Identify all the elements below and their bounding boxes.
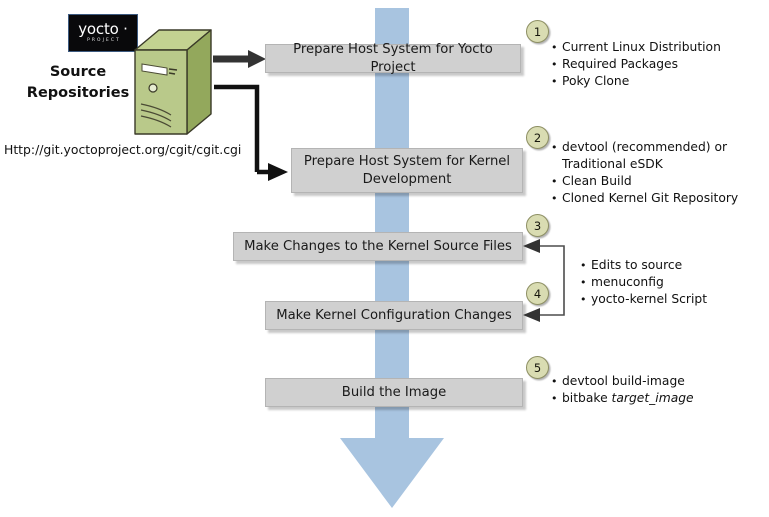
- bitbake-command-prefix: bitbake: [562, 391, 612, 405]
- step-circle-4: 4: [526, 282, 549, 305]
- step-circle-5: 5: [526, 356, 549, 379]
- step-circle-2: 2: [526, 126, 549, 149]
- diagram-canvas: yocto · PROJECT Source Repositories Http…: [0, 0, 769, 517]
- list-item: bitbake target_image: [551, 390, 761, 407]
- list-item: Current Linux Distribution: [551, 39, 766, 56]
- bullet-list-steps-3-4: Edits to source menuconfig yocto-kernel …: [580, 257, 760, 308]
- list-item: menuconfig: [580, 274, 760, 291]
- list-item: devtool (recommended) or Traditional eSD…: [551, 139, 761, 173]
- list-item: devtool build-image: [551, 373, 761, 390]
- bullet-list-step-2: devtool (recommended) or Traditional eSD…: [551, 139, 761, 207]
- bullet-list-step-1: Current Linux Distribution Required Pack…: [551, 39, 766, 90]
- step-circle-1: 1: [526, 20, 549, 43]
- bitbake-target-image-arg: target_image: [612, 391, 694, 405]
- list-item: Cloned Kernel Git Repository: [551, 190, 761, 207]
- list-item: Clean Build: [551, 173, 761, 190]
- list-item: Edits to source: [580, 257, 760, 274]
- bullet-list-step-5: devtool build-image bitbake target_image: [551, 373, 761, 407]
- list-item: yocto-kernel Script: [580, 291, 760, 308]
- list-item: Poky Clone: [551, 73, 766, 90]
- list-item: Required Packages: [551, 56, 766, 73]
- step-circle-3: 3: [526, 214, 549, 237]
